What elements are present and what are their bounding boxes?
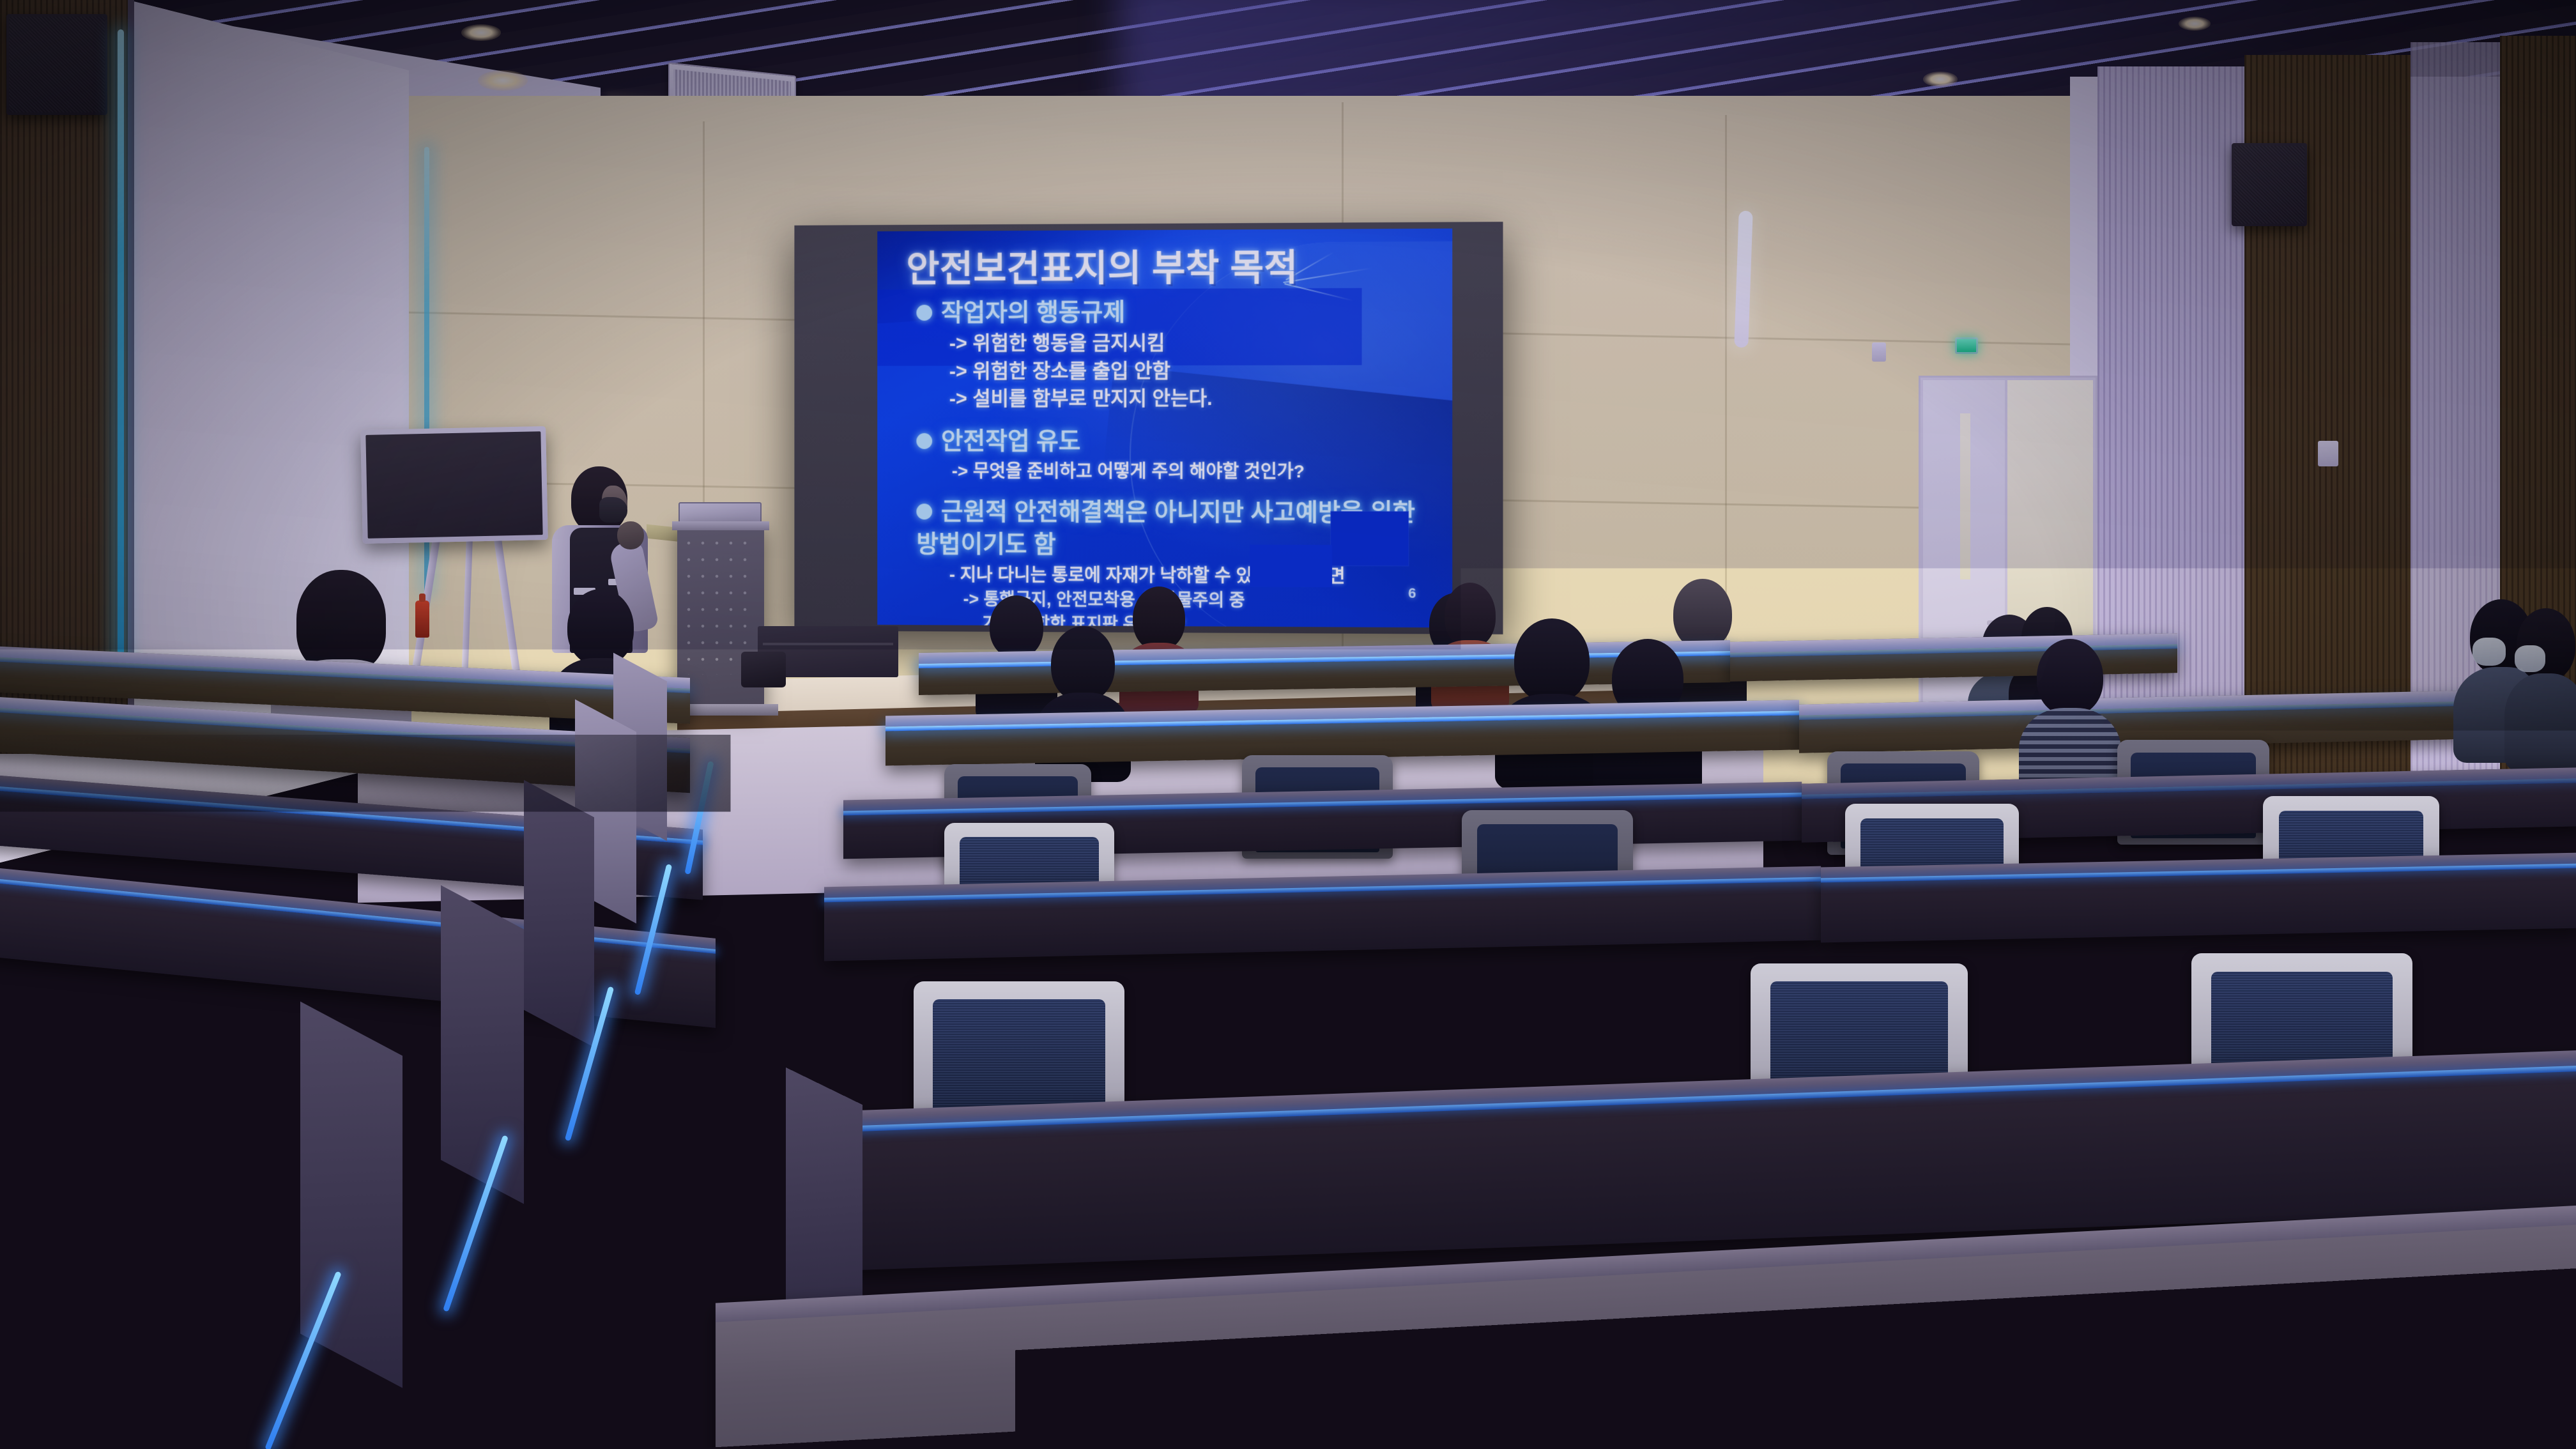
podium-top-shelf [672,521,769,530]
desk-row [1821,853,2576,943]
slide-subbullet: -> 설비를 함부로 만지지 안는다. [949,387,1441,411]
lecture-hall-photo: 안전보건표지의 부착 목적 작업자의 행동규제 -> 위험한 행동을 금지시킴 … [0,0,2576,1449]
slide-bullet-2-text: 안전작업 유도 [941,428,1081,456]
slide-subbullet: - 지나 다니는 통로에 자재가 낙하할 수 있다. 그렇다면 [949,564,1441,587]
person-head [2037,639,2103,716]
chair-mesh-back [933,999,1106,1120]
spacer [916,415,1441,428]
person-head [567,589,634,666]
slide-bullet-1: 작업자의 행동규제 [916,298,1441,327]
speaker-icon [2232,143,2307,226]
slide-subbullet: -> 무엇을 준비하고 어떻게 주의 해야할 것인가? [952,461,1441,482]
slide-title: 안전보건표지의 부착 목적 [907,238,1298,292]
wall-sensor-icon [1872,342,1886,362]
desk-end-panel [524,780,594,1047]
led-strip-icon [118,29,124,668]
slide-page-number: 6 [1408,585,1416,602]
projection-screen-frame: 안전보건표지의 부착 목적 작업자의 행동규제 -> 위험한 행동을 금지시킴 … [794,222,1503,634]
monitor-screen [365,431,542,539]
presentation-slide: 안전보건표지의 부착 목적 작업자의 행동규제 -> 위험한 행동을 금지시킴 … [877,229,1452,628]
speaker-grille [9,17,105,112]
bullet-dot-icon [916,503,932,519]
downlight-icon [461,24,501,41]
downlight-icon [1923,72,1958,87]
presenter-hand [617,521,644,549]
face-mask-icon [2472,638,2506,666]
slide-subbullet: -> 위험한 장소를 출입 안함 [949,359,1441,383]
speaker-icon [6,14,107,115]
door-vision-panel [1960,413,1970,579]
person-head [1445,583,1496,648]
bag [741,652,786,687]
bullet-dot-icon [916,433,932,449]
person-body [2504,673,2576,770]
spacer [916,486,1441,499]
person-head [1133,586,1185,650]
slide-bullet-1-text: 작업자의 행동규제 [941,299,1125,327]
downlight-icon [2179,17,2211,31]
slide-logo-block-2 [1250,544,1332,587]
slide-body: 작업자의 행동규제 -> 위험한 행동을 금지시킴 -> 위험한 장소를 출입 … [916,298,1441,627]
fire-extinguisher-icon [415,601,429,638]
face-mask-icon [599,497,627,523]
slide-subbullet: -> 위험한 행동을 금지시킴 [949,331,1441,355]
exit-sign-icon [1955,337,1978,354]
bullet-dot-icon [916,305,932,321]
speaker-grille [2234,146,2304,224]
person-head [1514,618,1590,703]
display-monitor[interactable] [360,426,548,544]
audience-member [2019,639,2121,792]
downlight-icon [478,70,528,91]
slide-logo-block [1331,512,1408,566]
person-head [1051,626,1115,701]
face-mask-icon [2515,645,2545,672]
audience-member [2504,608,2576,768]
slide-bullet-2: 안전작업 유도 [916,428,1441,456]
wall-switch-plate [2318,441,2338,466]
person-head [296,570,386,672]
desk-end-panel [441,885,524,1204]
